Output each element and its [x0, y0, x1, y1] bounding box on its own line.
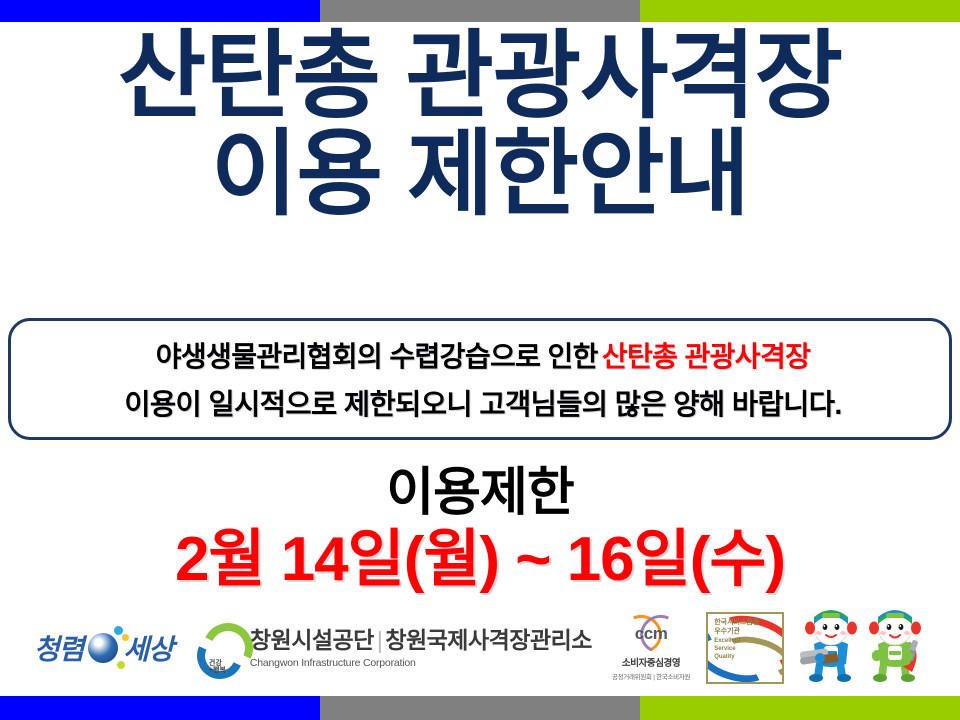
notice-line-1: 야생생물관리협회의 수렵강습으로 인한산탄총 관광사격장 [11, 343, 955, 371]
top-band-green [640, 0, 960, 22]
service-quality-english-line-2: Service [714, 646, 735, 652]
service-quality-korean-label: 한국서비스품질 우수기관 [714, 619, 759, 637]
changwon-swoosh-icon: 건강 +행복 [197, 623, 243, 673]
changwon-name-english: Changwon Infrastructure Corporation [250, 657, 592, 669]
clean-world-word-1: 청렴 [34, 628, 84, 668]
notice-line-1-prefix: 야생생물관리협회의 수렵강습으로 인한 [156, 341, 598, 372]
changwon-mark-tag-line-2: +행복 [209, 667, 226, 674]
headline-line-1: 산탄총 관광사격장 [0, 26, 960, 128]
service-quality-korean-line-1: 한국서비스품질 [714, 619, 759, 626]
ccm-acronym: ccm [622, 615, 680, 653]
changwon-mark-tag-line-1: 건강 [209, 660, 222, 667]
notice-line-2: 이용이 일시적으로 제한되오니 고객님들의 많은 양해 바랍니다. [11, 391, 955, 420]
pistol-mascot-green-icon [864, 606, 926, 690]
changwon-name-main: 창원시설공단 [250, 627, 374, 653]
service-quality-logo: 한국서비스품질 우수기관 Excellent Service Quality [704, 606, 786, 690]
service-quality-english-line-3: Quality [714, 654, 734, 660]
service-quality-frame: 한국서비스품질 우수기관 Excellent Service Quality [706, 612, 784, 684]
changwon-corporation-logo: 건강 +행복 창원시설공단|창원국제사격장관리소 Changwon Infras… [189, 606, 598, 690]
restriction-block: 이용제한 2월 14일(월) ~ 16일(수) [0, 466, 960, 594]
ccm-ring-icon: ccm [622, 615, 680, 653]
footer-logo-row: 청렴 세상 건강 +행복 창원시설공단|창원국제사격장관리소 [0, 600, 960, 696]
clean-world-logo: 청렴 세상 [34, 606, 179, 690]
headline-line-2: 이용 제한안내 [0, 124, 960, 224]
notice-box: 야생생물관리협회의 수렵강습으로 인한산탄총 관광사격장 이용이 일시적으로 제… [8, 318, 952, 440]
clean-world-emblem-icon [88, 633, 118, 663]
ccm-certification-logo: ccm 소비자중심경영 공정거래위원회 | 한국소비자원 [608, 606, 694, 690]
bottom-band-gray [320, 696, 640, 720]
top-band-blue [0, 0, 320, 22]
changwon-mark-tag: 건강 +행복 [209, 660, 226, 675]
changwon-logo-names: 창원시설공단|창원국제사격장관리소 Changwon Infrastructur… [250, 627, 592, 668]
changwon-name-sub: 창원국제사격장관리소 [385, 627, 592, 653]
ccm-korean-label: 소비자중심경영 [622, 655, 680, 669]
ccm-authority-label: 공정거래위원회 | 한국소비자원 [612, 671, 690, 681]
bottom-band-blue [0, 696, 320, 720]
clean-world-dot-blue-icon [114, 626, 123, 635]
service-quality-korean-line-2: 우수기관 [714, 628, 740, 635]
changwon-name-separator: | [377, 627, 382, 653]
notice-line-1-emphasis: 산탄총 관광사격장 [602, 341, 810, 372]
bottom-band-green [640, 696, 960, 720]
service-quality-english-line-1: Excellent [714, 638, 740, 644]
top-color-bands [0, 0, 960, 22]
restriction-dates: 2월 14일(월) ~ 16일(수) [0, 527, 960, 594]
changwon-name-row: 창원시설공단|창원국제사격장관리소 [250, 627, 592, 653]
poster-headline: 산탄총 관광사격장 이용 제한안내 [0, 26, 960, 223]
service-quality-english-label: Excellent Service Quality [714, 638, 740, 661]
poster-canvas: 산탄총 관광사격장 이용 제한안내 야생생물관리협회의 수렵강습으로 인한산탄총… [0, 0, 960, 720]
top-band-gray [320, 0, 640, 22]
bottom-color-bands [0, 696, 960, 720]
restriction-label: 이용제한 [0, 466, 960, 521]
shotgun-mascot-blue-icon [800, 606, 862, 690]
clean-world-word-2: 세상 [123, 628, 173, 668]
mascot-group [796, 606, 926, 690]
